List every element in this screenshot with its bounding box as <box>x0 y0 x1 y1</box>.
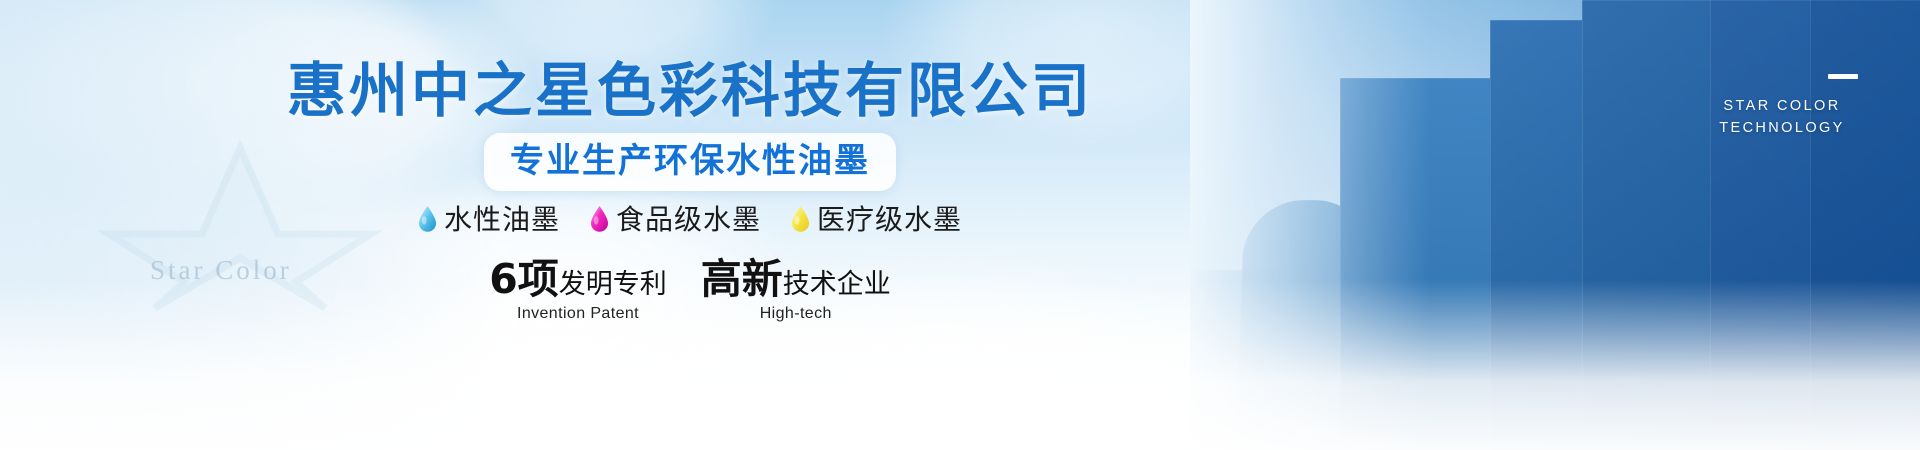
feature-list: 水性油墨 <box>0 198 1380 238</box>
badge-high-tech: 高新技术企业 High-tech <box>701 258 891 323</box>
water-drop-icon <box>418 205 437 232</box>
company-banner: STAR COLOR TECHNOLOGY Star Color 惠州中之星色彩… <box>0 0 1920 450</box>
badge-chinese-text: 6项发明专利 <box>489 258 667 301</box>
feature-item-food-grade-ink: 食品级水墨 <box>590 198 761 238</box>
badge-subtext: 发明专利 <box>559 269 667 300</box>
feature-label: 医疗级水墨 <box>817 198 962 238</box>
feature-item-medical-grade-ink: 医疗级水墨 <box>791 198 962 238</box>
subtitle-container: 专业生产环保水性油墨 <box>0 133 1380 191</box>
subtitle-pill: 专业生产环保水性油墨 <box>484 133 896 191</box>
badge-list: 6项发明专利 Invention Patent 高新技术企业 High-tech <box>0 258 1380 323</box>
feature-item-water-based-ink: 水性油墨 <box>418 198 560 238</box>
water-drop-icon <box>590 205 609 232</box>
badge-highlight: 6项 <box>489 255 559 303</box>
badge-highlight: 高新 <box>701 255 783 303</box>
banner-content: 惠州中之星色彩科技有限公司 专业生产环保水性油墨 <box>0 0 1920 450</box>
badge-subtext: 技术企业 <box>783 269 891 300</box>
feature-label: 食品级水墨 <box>616 198 761 238</box>
badge-english-text: Invention Patent <box>489 305 667 323</box>
badge-invention-patent: 6项发明专利 Invention Patent <box>489 258 667 323</box>
badge-chinese-text: 高新技术企业 <box>701 258 891 301</box>
water-drop-icon <box>791 205 810 232</box>
company-headline: 惠州中之星色彩科技有限公司 <box>0 62 1380 121</box>
feature-label: 水性油墨 <box>444 198 560 238</box>
badge-english-text: High-tech <box>701 305 891 323</box>
